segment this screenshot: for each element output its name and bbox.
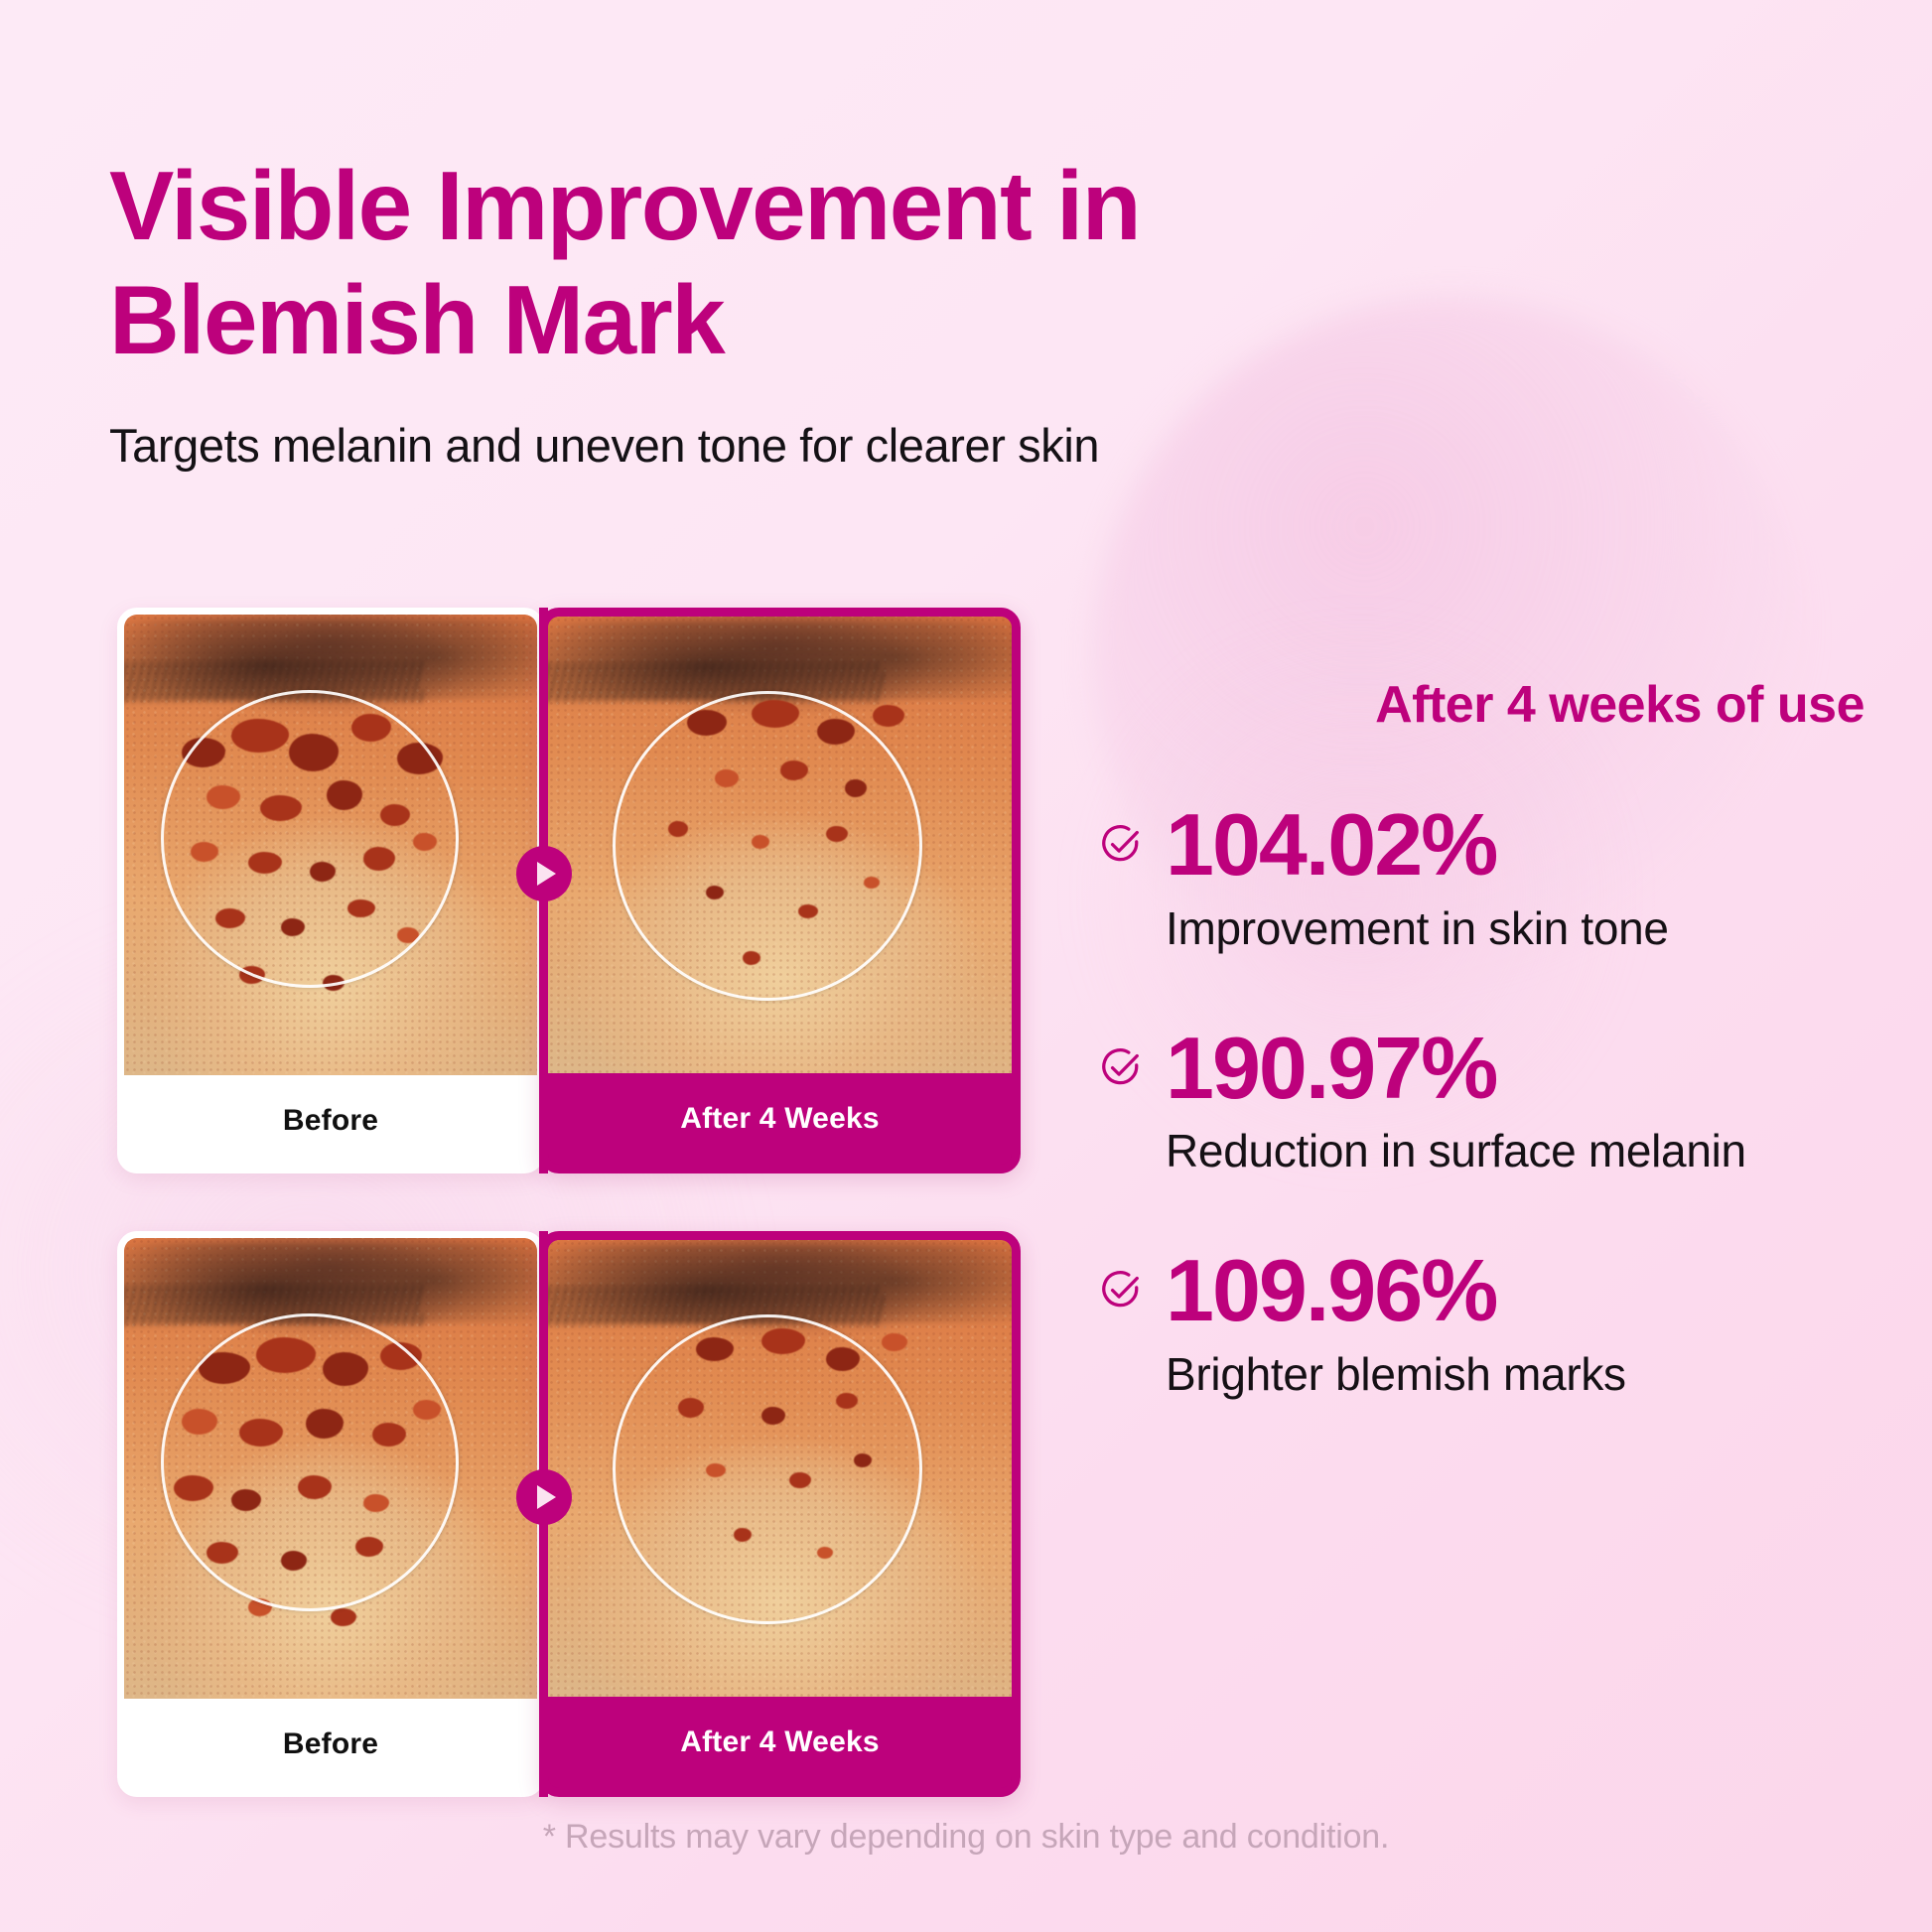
before-caption-label: Before <box>283 1727 378 1761</box>
measurement-circle <box>161 690 459 988</box>
after-card[interactable]: After 4 Weeks <box>539 1231 1021 1797</box>
stats-panel: After 4 weeks of use 104.02% Improvement… <box>1098 675 1872 1404</box>
stat-value: 104.02% <box>1166 800 1872 890</box>
before-card[interactable]: Before <box>117 1231 544 1797</box>
after-caption-bar: After 4 Weeks <box>548 1697 1012 1788</box>
promo-poster: Visible Improvement in Blemish Mark Targ… <box>0 0 1932 1932</box>
play-arrow-icon <box>516 846 572 901</box>
before-photo <box>124 1238 537 1713</box>
check-circle-icon <box>1098 822 1144 873</box>
before-caption-bar: Before <box>124 1075 537 1167</box>
stat-item: 109.96% Brighter blemish marks <box>1098 1246 1872 1404</box>
before-caption-label: Before <box>283 1104 378 1138</box>
page-subtitle: Targets melanin and uneven tone for clea… <box>109 418 1519 473</box>
stat-item: 190.97% Reduction in surface melanin <box>1098 1024 1872 1181</box>
after-card[interactable]: After 4 Weeks <box>539 608 1021 1173</box>
check-circle-icon <box>1098 1268 1144 1318</box>
stats-heading: After 4 weeks of use <box>1098 675 1872 735</box>
comparison-gallery: Before <box>117 608 1040 1797</box>
comparison-pair: Before <box>117 1231 1031 1797</box>
page-title: Visible Improvement in Blemish Mark <box>109 149 1519 376</box>
header: Visible Improvement in Blemish Mark Targ… <box>109 149 1519 473</box>
stat-value: 109.96% <box>1166 1246 1872 1335</box>
after-caption-label: After 4 Weeks <box>680 1725 879 1759</box>
before-card[interactable]: Before <box>117 608 544 1173</box>
measurement-circle <box>613 1314 922 1624</box>
stat-value: 190.97% <box>1166 1024 1872 1113</box>
stat-label: Brighter blemish marks <box>1166 1345 1872 1404</box>
after-photo <box>548 1240 1012 1705</box>
measurement-circle <box>161 1313 459 1611</box>
after-photo <box>548 617 1012 1081</box>
comparison-pair: Before <box>117 608 1031 1173</box>
before-photo <box>124 615 537 1089</box>
play-arrow-icon <box>516 1469 572 1525</box>
stat-label: Reduction in surface melanin <box>1166 1122 1872 1180</box>
after-caption-label: After 4 Weeks <box>680 1102 879 1136</box>
title-line-1: Visible Improvement in <box>109 149 1519 263</box>
stat-item: 104.02% Improvement in skin tone <box>1098 800 1872 958</box>
disclaimer: * Results may vary depending on skin typ… <box>0 1818 1932 1857</box>
check-circle-icon <box>1098 1045 1144 1096</box>
before-caption-bar: Before <box>124 1699 537 1790</box>
title-line-2: Blemish Mark <box>109 263 1519 377</box>
after-caption-bar: After 4 Weeks <box>548 1073 1012 1165</box>
measurement-circle <box>613 691 922 1001</box>
stat-label: Improvement in skin tone <box>1166 899 1872 958</box>
